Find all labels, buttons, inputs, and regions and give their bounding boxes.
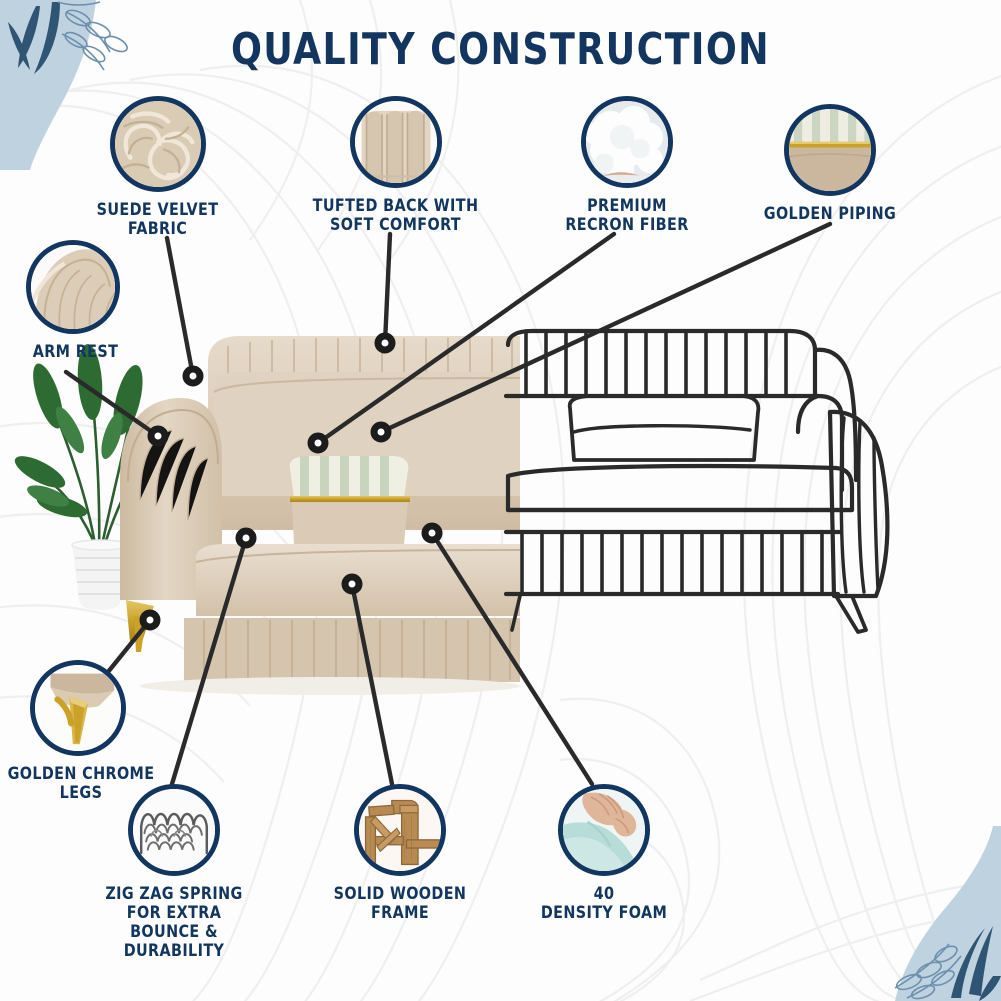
recron-fiber-fluff-icon — [581, 96, 673, 188]
callout-label: GOLDEN PIPING — [753, 205, 907, 224]
callout-solid-wooden-frame[interactable]: SOLID WOODEN FRAME — [312, 784, 488, 923]
callout-tufted-back-with-soft-comfort[interactable]: TUFTED BACK WITH SOFT COMFORT — [303, 96, 488, 235]
connector-dot-wooden-frame — [345, 577, 359, 591]
foam-hand-press-icon — [558, 784, 650, 876]
connector-dot-golden-legs — [143, 613, 157, 627]
golden-leg-icon — [30, 660, 126, 756]
callout-label: SOLID WOODEN FRAME — [317, 885, 482, 923]
connector-dot-zigzag-spring — [239, 531, 253, 545]
connector-dot-recron-fiber — [311, 436, 325, 450]
callout-density-foam[interactable]: 40 DENSITY FOAM — [518, 784, 690, 923]
callout-suede-velvet-fabric[interactable]: SUEDE VELVET FABRIC — [70, 96, 245, 239]
zigzag-spring-icon — [128, 784, 220, 876]
infographic-poster: QUALITY CONSTRUCTION — [0, 0, 1001, 1001]
callout-label: PREMIUM RECRON FIBER — [543, 197, 710, 235]
page-title: QUALITY CONSTRUCTION — [40, 24, 961, 75]
callout-label: ARM REST — [5, 343, 146, 362]
callout-label: ZIG ZAG SPRING FOR EXTRA BOUNCE & DURABI… — [89, 885, 258, 961]
tufted-back-channels-icon — [350, 96, 442, 188]
connector-dot-arm-rest — [151, 429, 165, 443]
arm-rest-curve-icon — [26, 240, 120, 334]
callout-premium-recron-fiber[interactable]: PREMIUM RECRON FIBER — [538, 96, 716, 235]
connector-dot-density-foam — [425, 526, 439, 540]
callout-zig-zag-spring[interactable]: ZIG ZAG SPRING FOR EXTRA BOUNCE & DURABI… — [84, 784, 264, 961]
connector-dot-suede-velvet — [186, 369, 200, 383]
callout-arm-rest[interactable]: ARM REST — [0, 240, 150, 362]
connector-dot-tufted-back — [378, 336, 392, 350]
callout-label: 40 DENSITY FOAM — [523, 885, 685, 923]
callout-label: SUEDE VELVET FABRIC — [75, 201, 240, 239]
connector-dot-golden-piping — [374, 425, 388, 439]
callout-golden-piping[interactable]: GOLDEN PIPING — [748, 104, 912, 224]
wooden-frame-icon — [354, 784, 446, 876]
velvet-fabric-swirl-icon — [110, 96, 206, 192]
golden-piping-stripe-icon — [784, 104, 876, 196]
callout-label: TUFTED BACK WITH SOFT COMFORT — [309, 197, 483, 235]
callout-golden-chrome-legs[interactable]: GOLDEN CHROME LEGS — [0, 660, 162, 803]
